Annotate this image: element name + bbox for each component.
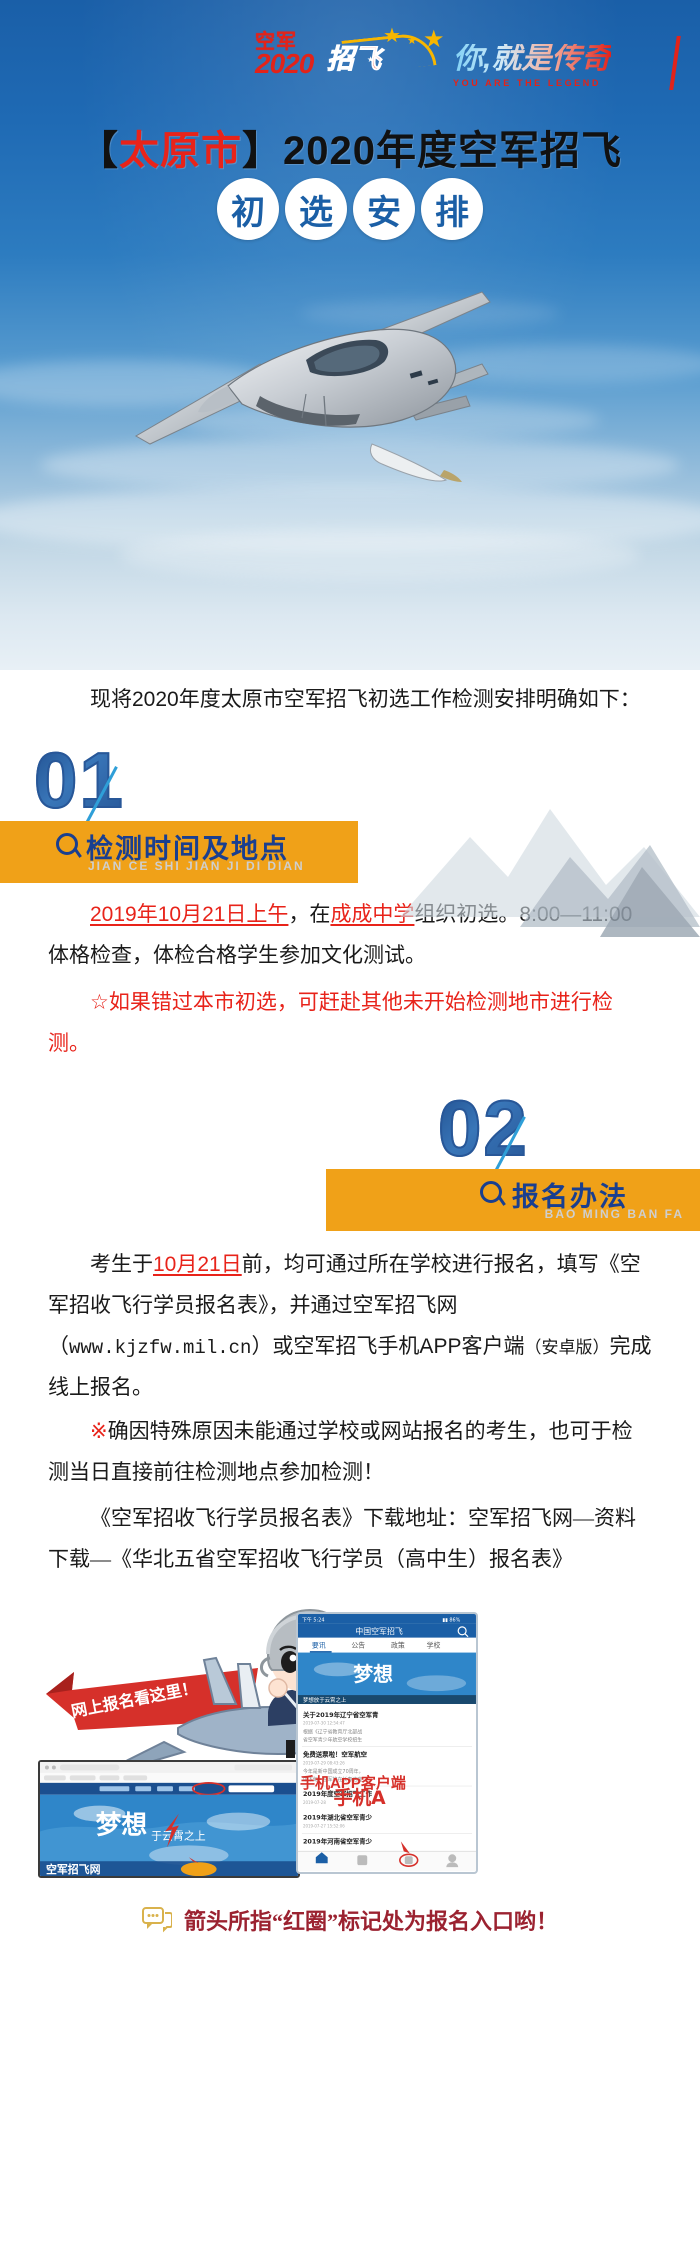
content-body: 现将2020年度太原市空军招飞初选工作检测安排明确如下： 01 检测时间及地点 … [0,640,700,1938]
title-rest: 2020年度空军招飞 [283,129,622,173]
title-city: 太原市 [119,129,242,173]
svg-text:空军招飞网: 空军招飞网 [46,1862,101,1876]
section-title-pinyin: JIAN CE SHI JIAN JI DI DIAN [88,859,305,873]
section-02-header: 02 报名办法 BAO MING BAN FA [0,1099,700,1239]
brand-slogan-english: YOU ARE THE LEGEND [453,78,601,88]
svg-text:2019年河南省空军青少: 2019年河南省空军青少 [303,1837,373,1846]
section-02-paragraph-1: 考生于10月21日前，均可通过所在学校进行报名，填写《空军招收飞行学员报名表》，… [0,1245,700,1409]
section-01-paragraph-2: ☆如果错过本市初选，可赶赴其他未开始检测地市进行检测。 [0,983,700,1065]
star-icon: ★ [383,26,401,46]
magnifier-icon [56,833,78,855]
brand-logo: 空军 2020 招飞 ★ ★ ★ ★ 你,就是传奇 YOU ARE THE LE… [255,30,675,98]
text-run: 考生于 [90,1253,153,1276]
chat-bubble-icon [142,1907,172,1933]
text-run: ）或空军招飞手机APP客户端 [251,1335,524,1358]
svg-text:2019年湖北省空军青少: 2019年湖北省空军青少 [303,1813,373,1822]
svg-text:2019-07-29 08:43:26: 2019-07-29 08:43:26 [303,1760,345,1765]
section-number: 02 [438,1089,529,1167]
phone-app-screenshot[interactable]: 下午 5:24 ▮▮ 86% 中国空军招飞 要讯 公告 政策 学校 梦想 梦想放… [296,1612,478,1874]
section-02-paragraph-3: 《空军招收飞行学员报名表》下载地址：空军招飞网—资料下载—《华北五省空军招收飞行… [0,1498,700,1580]
mountain-backdrop [400,717,700,947]
svg-text:公告: 公告 [351,1641,365,1650]
svg-text:要讯: 要讯 [312,1642,326,1650]
svg-text:省空军青少年航空学校招生: 省空军青少年航空学校招生 [303,1737,362,1744]
star-icon: ★ [367,56,374,64]
subtitle-char: 排 [421,178,483,240]
intro-paragraph: 现将2020年度太原市空军招飞初选工作检测安排明确如下： [0,640,700,721]
svg-text:2019-07-30 12:54:47: 2019-07-30 12:54:47 [303,1721,345,1726]
magnifier-icon [480,1181,502,1203]
page-title: 【太原市】2020年度空军招飞 [0,118,700,176]
section-title-pinyin: BAO MING BAN FA [545,1207,684,1221]
footer-note: 箭头所指“红圈”标记处为报名入口哟！ [0,1894,700,1938]
brand-year-text: 2020 [255,50,313,78]
fighter-jet-illustration [110,268,580,508]
brand-slogan: 你,就是传奇 [453,44,611,74]
star-icon: ★ [407,36,417,47]
svg-text:政策: 政策 [391,1641,405,1650]
exam-datetime: 2019年10月21日上午 [90,903,288,926]
svg-text:梦想: 梦想 [353,1663,393,1686]
svg-text:▮▮ 86%: ▮▮ 86% [442,1618,460,1624]
svg-text:关于2019年辽宁省空军青: 关于2019年辽宁省空军青 [303,1710,379,1719]
footer-text: 箭头所指“红圈”标记处为报名入口哟！ [184,1904,558,1936]
hero-banner: 空军 2020 招飞 ★ ★ ★ ★ 你,就是传奇 YOU ARE THE LE… [0,0,700,670]
svg-text:于云霄之上: 于云霄之上 [151,1829,206,1843]
title-bracket-open: 【 [78,129,119,173]
illustration-area: 网上报名看这里！ [0,1594,700,1894]
phone-app-label: 手机APP客户端 [300,1772,406,1793]
text-run: ，在 [288,903,330,926]
page-subtitle: 初 选 安 排 [0,178,700,240]
svg-text:梦想放于云霄之上: 梦想放于云霄之上 [303,1696,347,1704]
subtitle-char: 安 [353,178,415,240]
cloud [120,530,640,580]
svg-text:根据《辽宁省教育厅北部战: 根据《辽宁省教育厅北部战 [303,1729,362,1736]
section-02-paragraph-2: ※确因特殊原因未能通过学校或网站报名的考生，也可于检测当日直接前往检测地点参加检… [0,1412,700,1494]
note-marker: ※ [90,1420,108,1443]
pc-website-screenshot[interactable]: 梦想 于云霄之上 空军招飞网 [38,1760,300,1878]
svg-text:2019-07-28: 2019-07-28 [303,1800,326,1805]
section-01-header: 01 检测时间及地点 JIAN CE SHI JIAN JI DI DIAN [0,747,700,887]
star-icon: ★ [423,28,445,52]
title-bracket-close: 】 [242,129,283,173]
registration-deadline: 10月21日 [153,1253,242,1276]
svg-text:2019-07-27 15:52:06: 2019-07-27 15:52:06 [303,1824,345,1829]
website-url[interactable]: www.kjzfw.mil.cn [69,1337,251,1359]
svg-text:学校: 学校 [427,1641,441,1650]
svg-text:下午 5:24: 下午 5:24 [302,1617,325,1624]
text-run: 确因特殊原因未能通过学校或网站报名的考生，也可于检测当日直接前往检测地点参加检测… [48,1420,633,1484]
subtitle-char: 选 [285,178,347,240]
section-title-bar: 报名办法 BAO MING BAN FA [326,1169,700,1231]
android-note: （安卓版） [524,1338,609,1357]
section-title-bar: 检测时间及地点 JIAN CE SHI JIAN JI DI DIAN [0,821,358,883]
svg-text:梦想: 梦想 [96,1811,148,1841]
subtitle-char: 初 [217,178,279,240]
svg-text:中国空军招飞: 中国空军招飞 [355,1626,403,1636]
svg-text:免费送票啦！空军航空: 免费送票啦！空军航空 [303,1750,368,1759]
